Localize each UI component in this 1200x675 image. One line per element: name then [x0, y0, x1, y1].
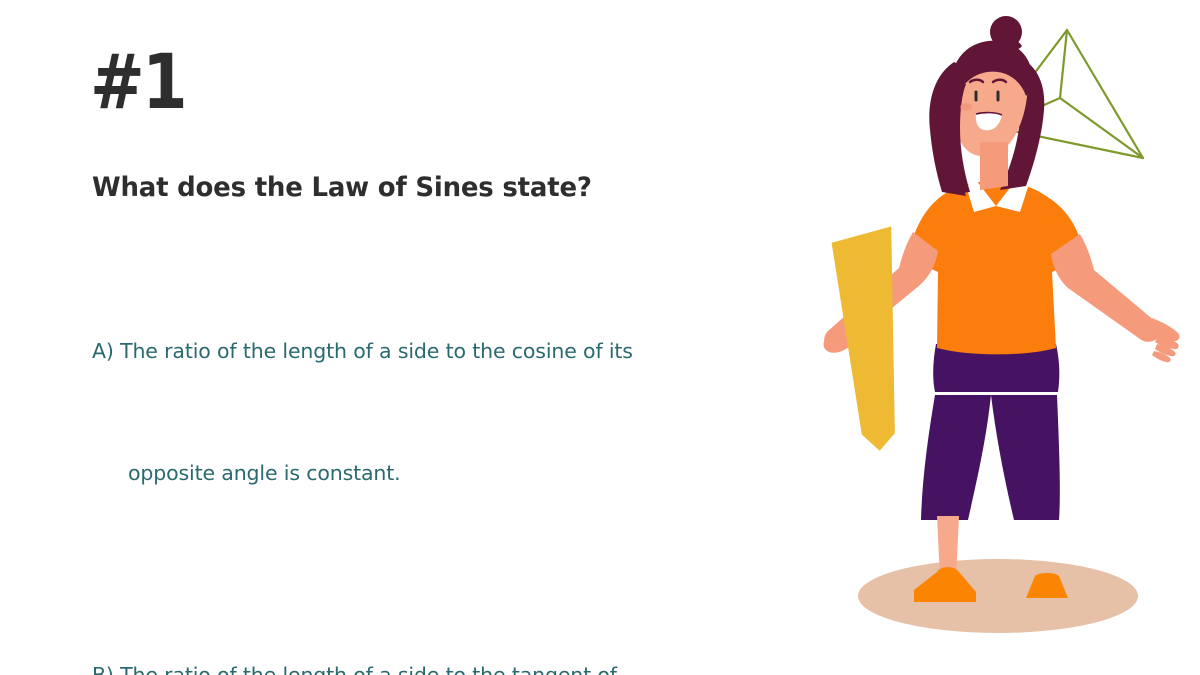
neck — [980, 142, 1008, 190]
right-leg — [991, 395, 1060, 520]
left-leg — [921, 395, 991, 520]
option-a[interactable]: A) The ratio of the length of a side to … — [92, 250, 732, 574]
question-content: #1 What does the Law of Sines state? A) … — [0, 0, 760, 675]
character-illustration — [780, 0, 1200, 675]
option-a-line-1: A) The ratio of the length of a side to … — [92, 331, 732, 372]
right-hand — [1152, 318, 1179, 362]
page-title: What does the Law of Sines state? — [92, 172, 592, 203]
options-list: A) The ratio of the length of a side to … — [92, 250, 732, 675]
option-a-line-2: opposite angle is constant. — [92, 453, 732, 494]
right-arm — [1051, 234, 1160, 342]
slide-root: #1 What does the Law of Sines state? A) … — [0, 0, 1200, 675]
question-number: #1 — [90, 44, 185, 120]
option-b[interactable]: B) The ratio of the length of a side to … — [92, 574, 732, 675]
option-b-line-1: B) The ratio of the length of a side to … — [92, 655, 732, 675]
ground-shadow-ellipse — [858, 559, 1138, 633]
legs-pants — [921, 344, 1060, 520]
head-group — [929, 16, 1044, 196]
cheek — [960, 103, 972, 111]
